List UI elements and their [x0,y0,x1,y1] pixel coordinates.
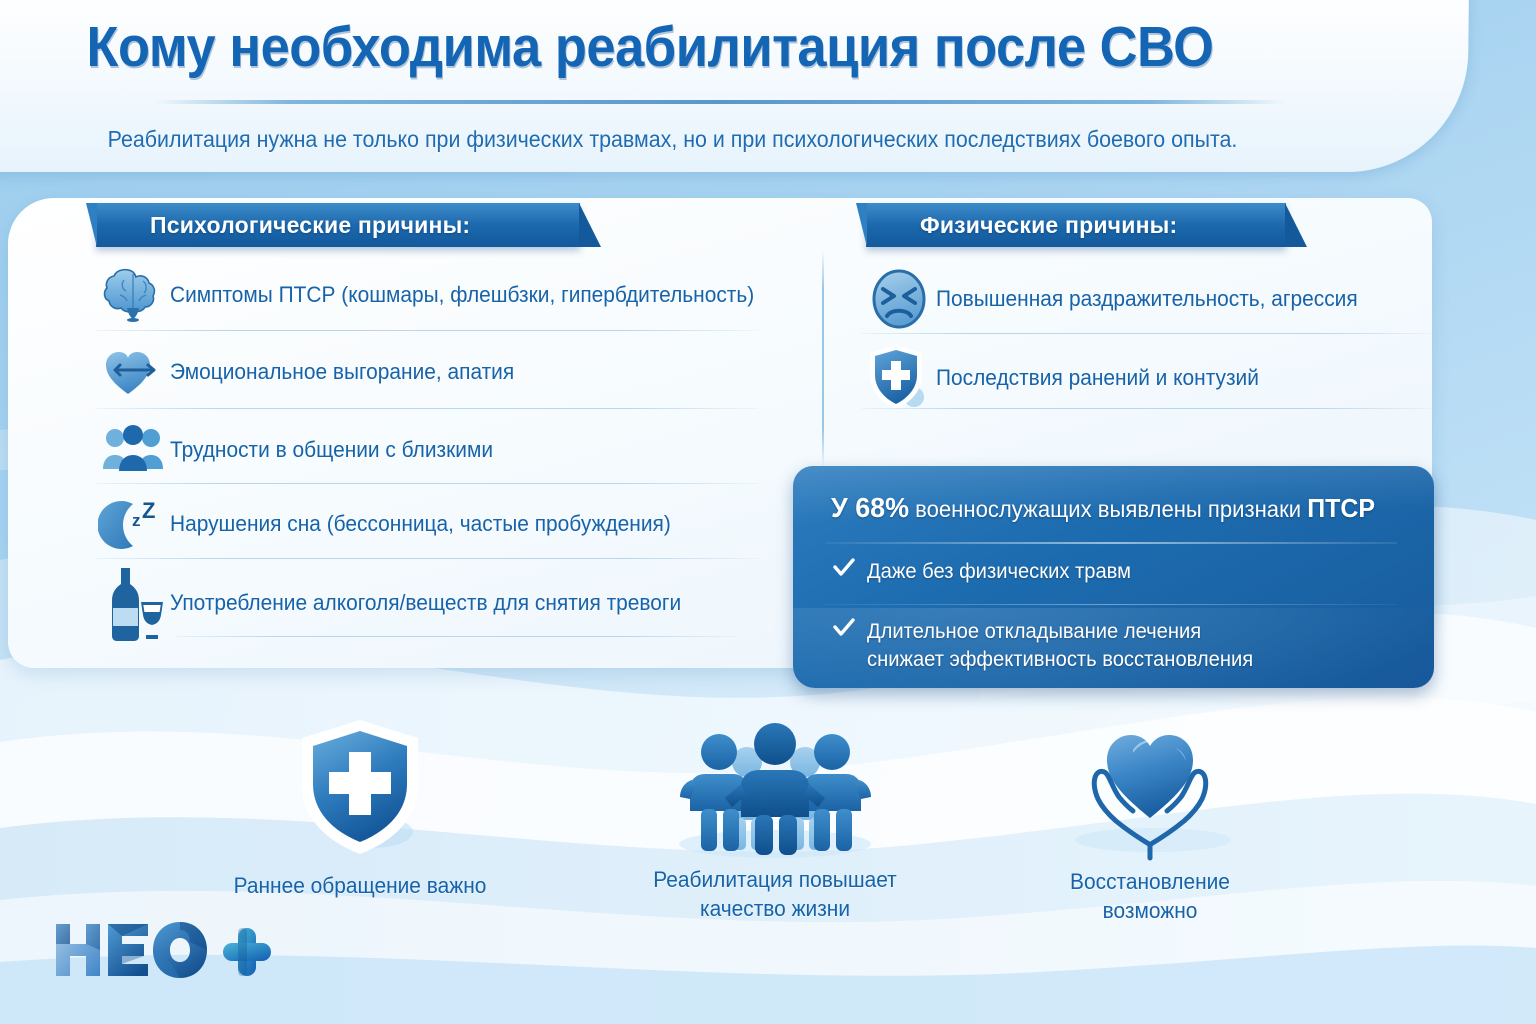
shield-cross-icon [862,343,936,413]
list-item-irritability-label: Повышенная раздражительность, агрессия [936,286,1358,312]
infographic-poster: Кому необходима реабилитация после СВО Р… [0,0,1536,1024]
check-icon [833,558,867,584]
statistics-headline: У 68% военнослужащих выявлены признаки П… [831,492,1388,524]
row-separator [862,408,1432,409]
feature-recovery-possible: Восстановление возможно [1000,712,1300,925]
list-item-wounds: Последствия ранений и контузий [862,343,1276,413]
stat-divider-bottom [825,604,1397,605]
stat-prefix: У [831,492,855,523]
list-item-communication-label: Трудности в общении с близкими [170,437,493,463]
row-separator [176,636,736,637]
svg-text:z: z [132,511,141,530]
list-item-ptsd-label: Симптомы ПТСР (кошмары, флешбзки, гиперб… [170,282,754,308]
feature-quality-of-life-caption: Реабилитация повышает качество жизни [618,865,932,923]
row-separator [96,330,758,331]
page-title: Кому необходима реабилитация после СВО [52,18,1248,78]
check-icon [833,618,867,644]
stat-bullet-no-injury-label: Даже без физических травм [867,558,1131,586]
hands-heart-icon [1000,712,1300,867]
logo-mark [52,918,292,988]
list-item-irritability: Повышенная раздражительность, агрессия [862,268,1380,330]
feature-early-help-caption: Раннее обращение важно [208,871,512,900]
stat-bullet-delay: Длительное откладывание лечения снижает … [833,618,1403,674]
neo-plus-logo [52,918,292,988]
row-separator [96,558,758,559]
heart-drain-icon [96,341,170,403]
stat-divider-top [825,542,1397,544]
stat-headline-tail: ПТСР [1307,493,1375,523]
row-separator [96,408,758,409]
shield-cross-large-icon [200,712,520,867]
column-divider [822,250,824,468]
row-separator [96,483,758,484]
list-item-wounds-label: Последствия ранений и контузий [936,365,1259,391]
header-content: Кому необходима реабилитация после СВО Р… [0,0,1536,190]
feature-recovery-possible-caption: Восстановление возможно [1008,867,1293,925]
list-item-sleep-label: Нарушения сна (бессонница, частые пробуж… [170,511,671,537]
stat-bullet-no-injury: Даже без физических травм [833,558,1393,586]
title-divider [155,100,1285,104]
statistics-panel: У 68% военнослужащих выявлены признаки П… [793,466,1434,688]
list-item-ptsd: Симптомы ПТСР (кошмары, флешбзки, гиперб… [96,264,785,326]
list-item-sleep: z Z Нарушения сна (бессонница, частые пр… [96,493,697,555]
angry-face-icon [862,268,936,330]
list-item-burnout-label: Эмоциональное выгорание, апатия [170,359,514,385]
people-group-icon [96,419,170,481]
psychological-causes-heading: Психологические причины: [96,203,580,247]
feature-quality-of-life: Реабилитация повышает качество жизни [610,714,940,923]
people-team-icon [610,714,940,865]
list-item-alcohol-label: Употребление алкоголя/веществ для снятия… [170,590,681,616]
list-item-alcohol: Употребление алкоголя/веществ для снятия… [96,566,708,640]
stat-percent: 68% [855,492,909,523]
row-separator [862,333,1432,334]
svg-text:Z: Z [142,498,155,523]
list-item-burnout: Эмоциональное выгорание, апатия [96,341,532,403]
brain-icon [96,264,170,326]
feature-early-help: Раннее обращение важно [200,712,520,900]
list-item-communication: Трудности в общении с близкими [96,419,510,481]
moon-sleep-icon: z Z [96,493,170,555]
psychological-causes-heading-label: Психологические причины: [96,212,470,239]
bottle-glass-icon [96,566,170,640]
physical-causes-heading-label: Физические причины: [866,212,1177,239]
physical-causes-heading: Физические причины: [866,203,1286,247]
stat-bullet-delay-label: Длительное откладывание лечения снижает … [867,618,1253,674]
stat-headline-middle: военнослужащих выявлены признаки [909,496,1307,522]
page-subtitle: Реабилитация нужна не только при физичес… [47,126,1298,153]
